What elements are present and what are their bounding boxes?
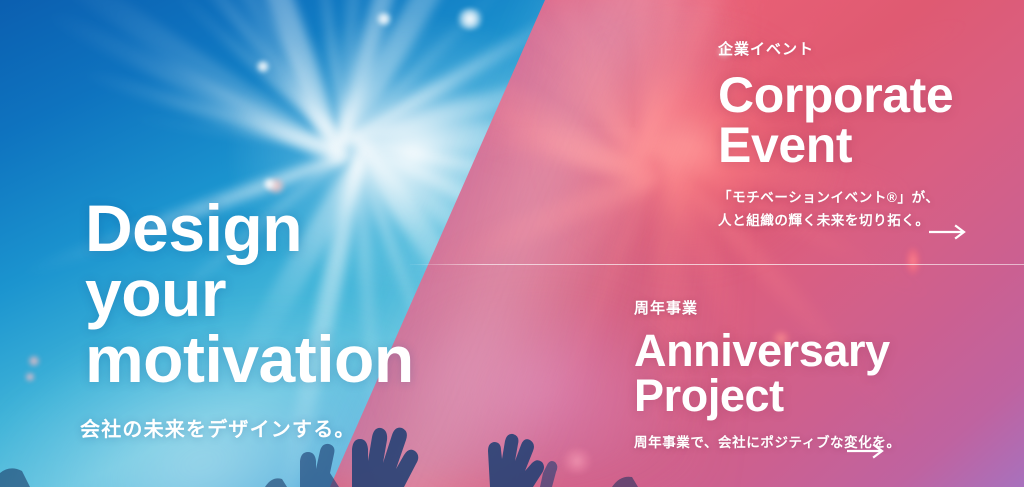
card-title-line-1: Corporate <box>718 70 953 120</box>
card-title: Anniversary Project <box>634 328 901 418</box>
hero-banner: Design your motivation 会社の未来をデザインする。 企業イ… <box>0 0 1024 487</box>
light-spot-icon <box>905 246 921 276</box>
card-title-line-1: Anniversary <box>634 328 901 373</box>
card-corporate-event[interactable]: 企業イベント Corporate Event 「モチベーションイベント®」が、 … <box>718 38 953 232</box>
headline-line-2: your <box>85 261 414 326</box>
light-spot-icon <box>375 12 393 26</box>
light-spot-icon <box>255 60 271 73</box>
page-title: Design your motivation <box>85 196 414 392</box>
card-description-line-2: 人と組織の輝く未来を切り拓く。 <box>718 209 953 232</box>
arrow-right-icon[interactable] <box>928 224 968 240</box>
light-spot-icon <box>560 448 594 474</box>
card-description: 「モチベーションイベント®」が、 人と組織の輝く未来を切り拓く。 <box>718 186 953 232</box>
light-spot-icon <box>27 355 41 367</box>
headline-line-3: motivation <box>85 327 414 392</box>
card-title: Corporate Event <box>718 70 953 170</box>
light-spot-icon <box>262 178 277 190</box>
section-divider <box>410 264 1024 265</box>
headline-subtitle: 会社の未来をデザインする。 <box>80 413 356 442</box>
card-title-line-2: Project <box>634 373 901 418</box>
headline-line-1: Design <box>85 196 414 261</box>
card-eyebrow: 周年事業 <box>634 297 901 318</box>
card-anniversary-project[interactable]: 周年事業 Anniversary Project 周年事業で、会社にポジティブな… <box>634 297 901 454</box>
light-spot-icon <box>24 372 36 382</box>
light-spot-icon <box>455 8 485 30</box>
card-eyebrow: 企業イベント <box>718 38 953 59</box>
card-description-line-1: 「モチベーションイベント®」が、 <box>718 186 953 209</box>
arrow-right-icon[interactable] <box>846 443 886 459</box>
card-title-line-2: Event <box>718 120 953 170</box>
